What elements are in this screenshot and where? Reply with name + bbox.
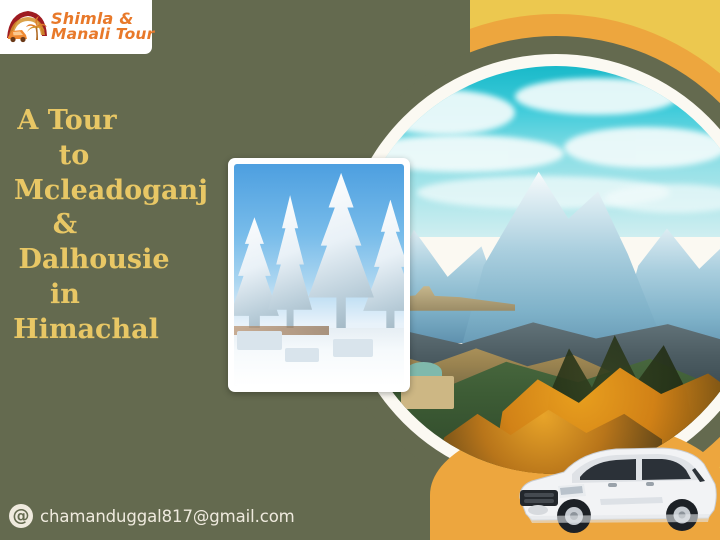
contact-email-row[interactable]: @ chamanduggal817@gmail.com xyxy=(9,504,295,528)
headline-line-7: Himachal xyxy=(0,313,230,348)
snow-pine-tree xyxy=(261,195,319,346)
snow-pine-tree xyxy=(302,173,380,346)
headline-line-2: to xyxy=(0,139,230,174)
logo-line-2: Manali Tour xyxy=(51,27,155,43)
contact-email-text: chamanduggal817@gmail.com xyxy=(40,507,295,526)
inset-photo-inner xyxy=(234,164,404,386)
snow-pine-forest-photo xyxy=(228,158,410,392)
snow-covered-hut xyxy=(285,348,319,361)
headline-line-1: A Tour xyxy=(0,104,230,139)
logo-text: Shimla & Manali Tour xyxy=(51,11,155,43)
snow-covered-hut xyxy=(237,331,281,351)
page-title: A Tour to Mcleadoganj & Dalhousie in Him… xyxy=(0,104,230,348)
poster-canvas: Shimla & Manali Tour A Tour to Mcleadoga… xyxy=(0,0,720,540)
white-suv-innova-photo xyxy=(512,436,718,540)
suv-vector xyxy=(512,436,718,540)
headline-line-4: & xyxy=(0,208,230,243)
snow-covered-hut xyxy=(333,339,374,357)
headline-line-5: Dalhousie xyxy=(0,243,230,278)
at-sign-icon: @ xyxy=(9,504,33,528)
cloud xyxy=(564,127,720,168)
logo-mark xyxy=(4,6,50,48)
cloud xyxy=(515,78,678,115)
brand-logo[interactable]: Shimla & Manali Tour xyxy=(0,0,152,54)
headline-line-3: Mcleadoganj xyxy=(0,174,230,209)
arch-icon xyxy=(4,6,50,48)
headline-line-6: in xyxy=(0,278,230,313)
